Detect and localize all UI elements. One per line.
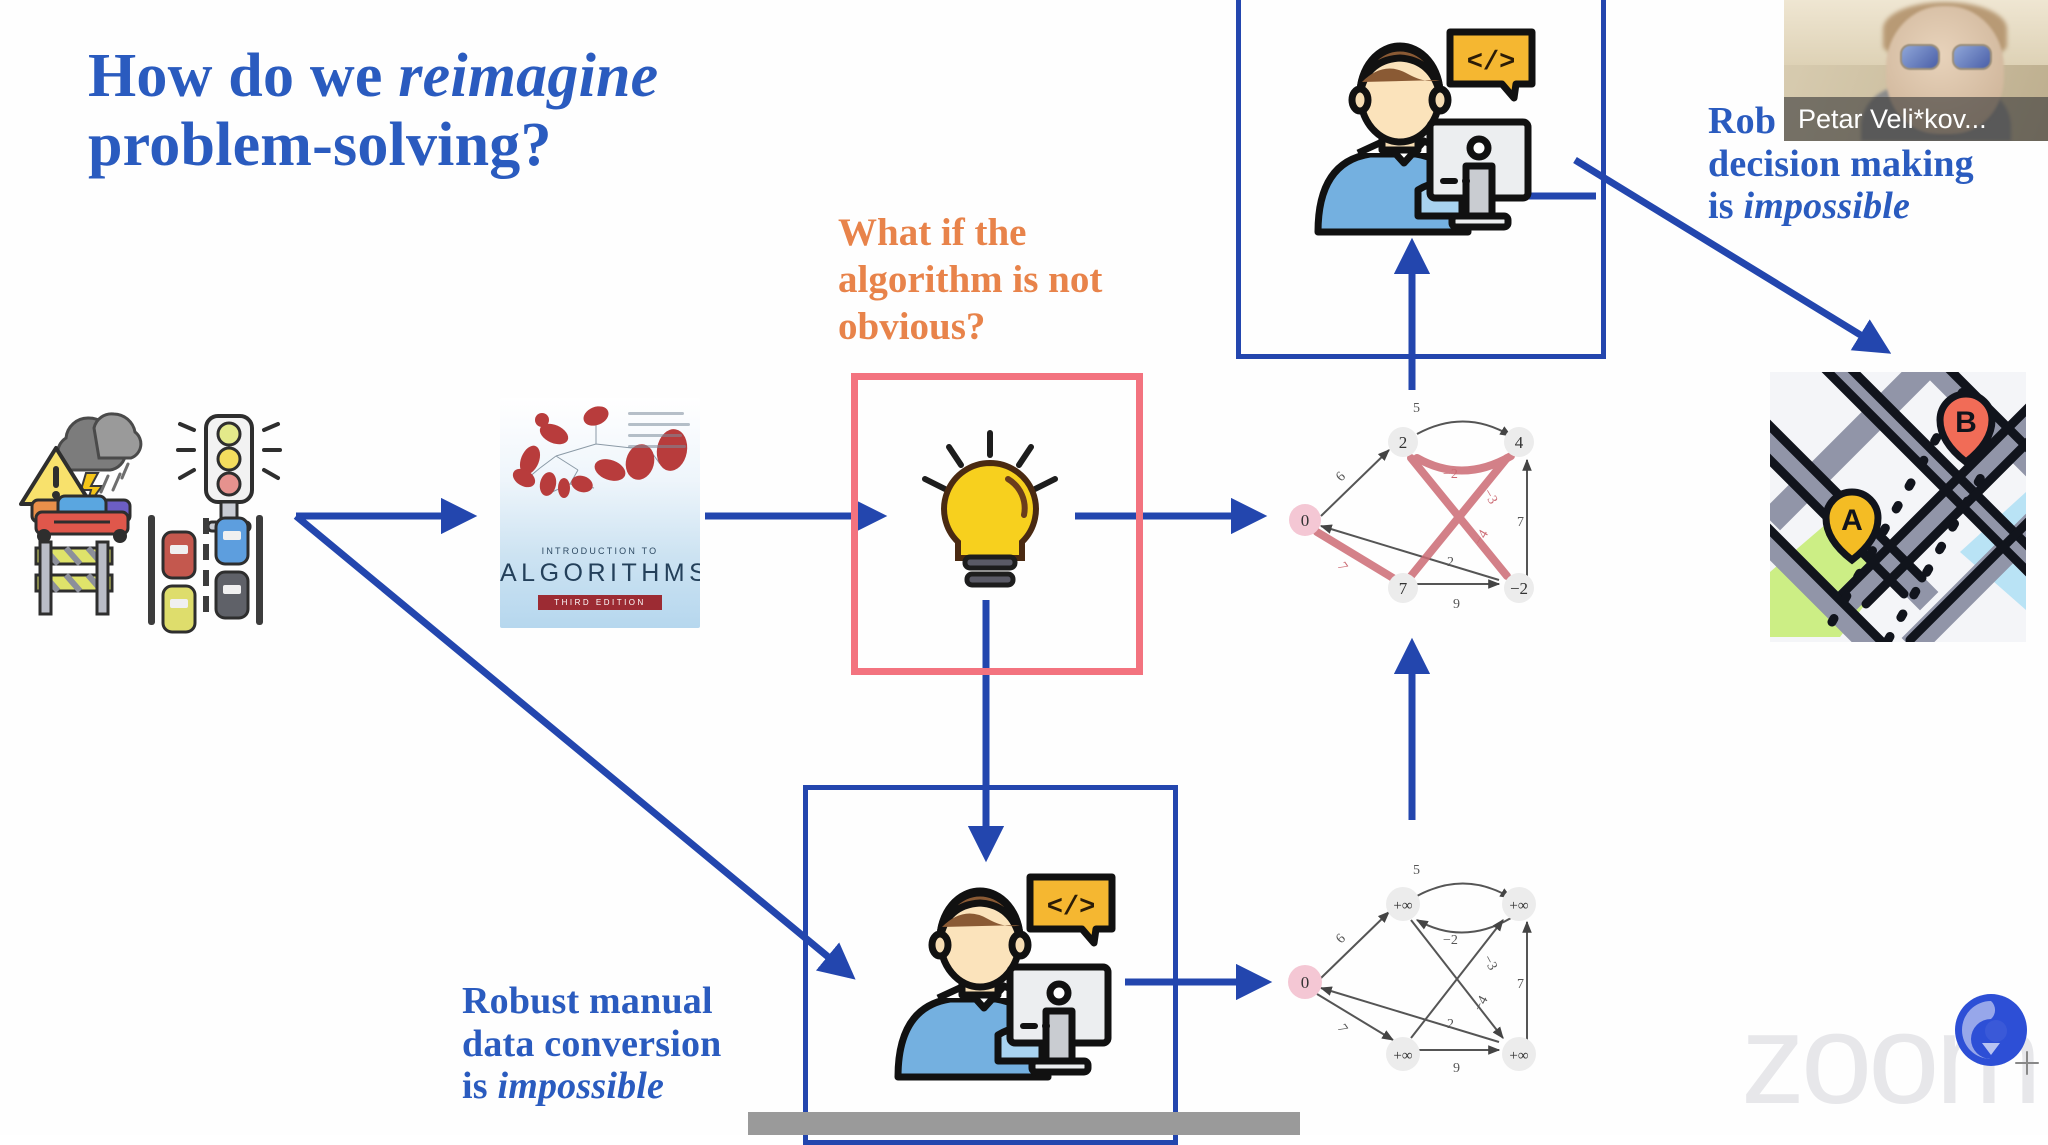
edge-weight: −2 [1443,467,1458,482]
book-title: ALGORITHMS [500,559,700,588]
node-label: +∞ [1393,1048,1412,1064]
traffic-light-icon [178,416,280,531]
clrs-algorithms-book: INTRODUCTION TO ALGORITHMS THIRD EDITION [500,398,700,628]
graph-nodes: 0 2 4 7 −2 [1289,427,1534,603]
edge-weight: 6 [1333,469,1348,485]
road-barricade-icon [36,542,112,614]
route-map-icon: B A [1770,372,2026,642]
zoom-bottom-bar [748,1112,1300,1135]
book-author-lines [628,412,690,456]
book-title-block: INTRODUCTION TO ALGORITHMS THIRD EDITION [500,546,700,610]
edge-weight: −3 [1479,953,1499,973]
edge-weight: 7 [1334,1022,1350,1036]
mouse-cursor [2012,1048,2042,1078]
node-label: 2 [1399,433,1408,452]
zoom-participant-video-tile[interactable]: Petar Veli*kov... [1784,0,2048,141]
road-with-cars-icon [148,515,263,632]
book-edition: THIRD EDITION [538,595,662,610]
graph-bellman-ford-initial: 5 6 −2 −3 −4 7 2 9 7 0 +∞ +∞ +∞ +∞ [1285,860,1555,1075]
edge-weight: −4 [1471,994,1491,1014]
node-label: 0 [1301,973,1310,992]
lightbulb-idea-icon [905,425,1075,615]
edge-weight: 9 [1453,1061,1460,1075]
edge-weight: 6 [1333,931,1348,947]
code-bubble-text: </> [1467,48,1516,78]
participant-name: Petar Veli*kov... [1798,104,1987,135]
car-pileup-icon [32,496,130,543]
arrow-topbox-to-map [1575,160,1885,350]
graph-nodes: 0 +∞ +∞ +∞ +∞ [1288,887,1536,1071]
book-pretitle: INTRODUCTION TO [500,546,700,556]
graph-bellman-ford-final: 5 6 −2 −3 −4 7 2 9 7 0 2 4 7 −2 [1285,398,1555,613]
node-label: −2 [1510,579,1528,598]
node-label: +∞ [1393,898,1412,914]
edge-weight: −2 [1443,933,1458,948]
edge-weight: 7 [1517,515,1524,530]
node-label: 7 [1399,579,1408,598]
presentation-slide: How do we reimagine problem-solving? Wha… [0,0,2048,1135]
edge-weight: 2 [1447,1017,1454,1032]
map-pin-b-label: B [1955,406,1977,439]
edge-weight: 7 [1517,977,1524,992]
node-label: 0 [1301,511,1310,530]
node-label: +∞ [1509,898,1528,914]
edge-weight: 5 [1413,401,1420,416]
code-bubble-text: </> [1047,893,1096,923]
traffic-chaos-illustration [8,400,298,640]
map-pin-a-label: A [1841,504,1863,537]
programmer-top-icon: </> [1290,10,1540,240]
edge-weight: 7 [1334,560,1350,574]
programmer-bottom-icon: </> [870,855,1120,1085]
edge-weight: 2 [1447,555,1454,570]
participant-name-bar: Petar Veli*kov... [1784,97,2048,141]
edge-weight: 9 [1453,597,1460,612]
glasses-icon [1900,44,1992,66]
node-label: +∞ [1509,1048,1528,1064]
edge-weight: 5 [1413,863,1420,878]
zoom-watermark: zoom [1808,996,2038,1111]
node-label: 4 [1515,433,1524,452]
